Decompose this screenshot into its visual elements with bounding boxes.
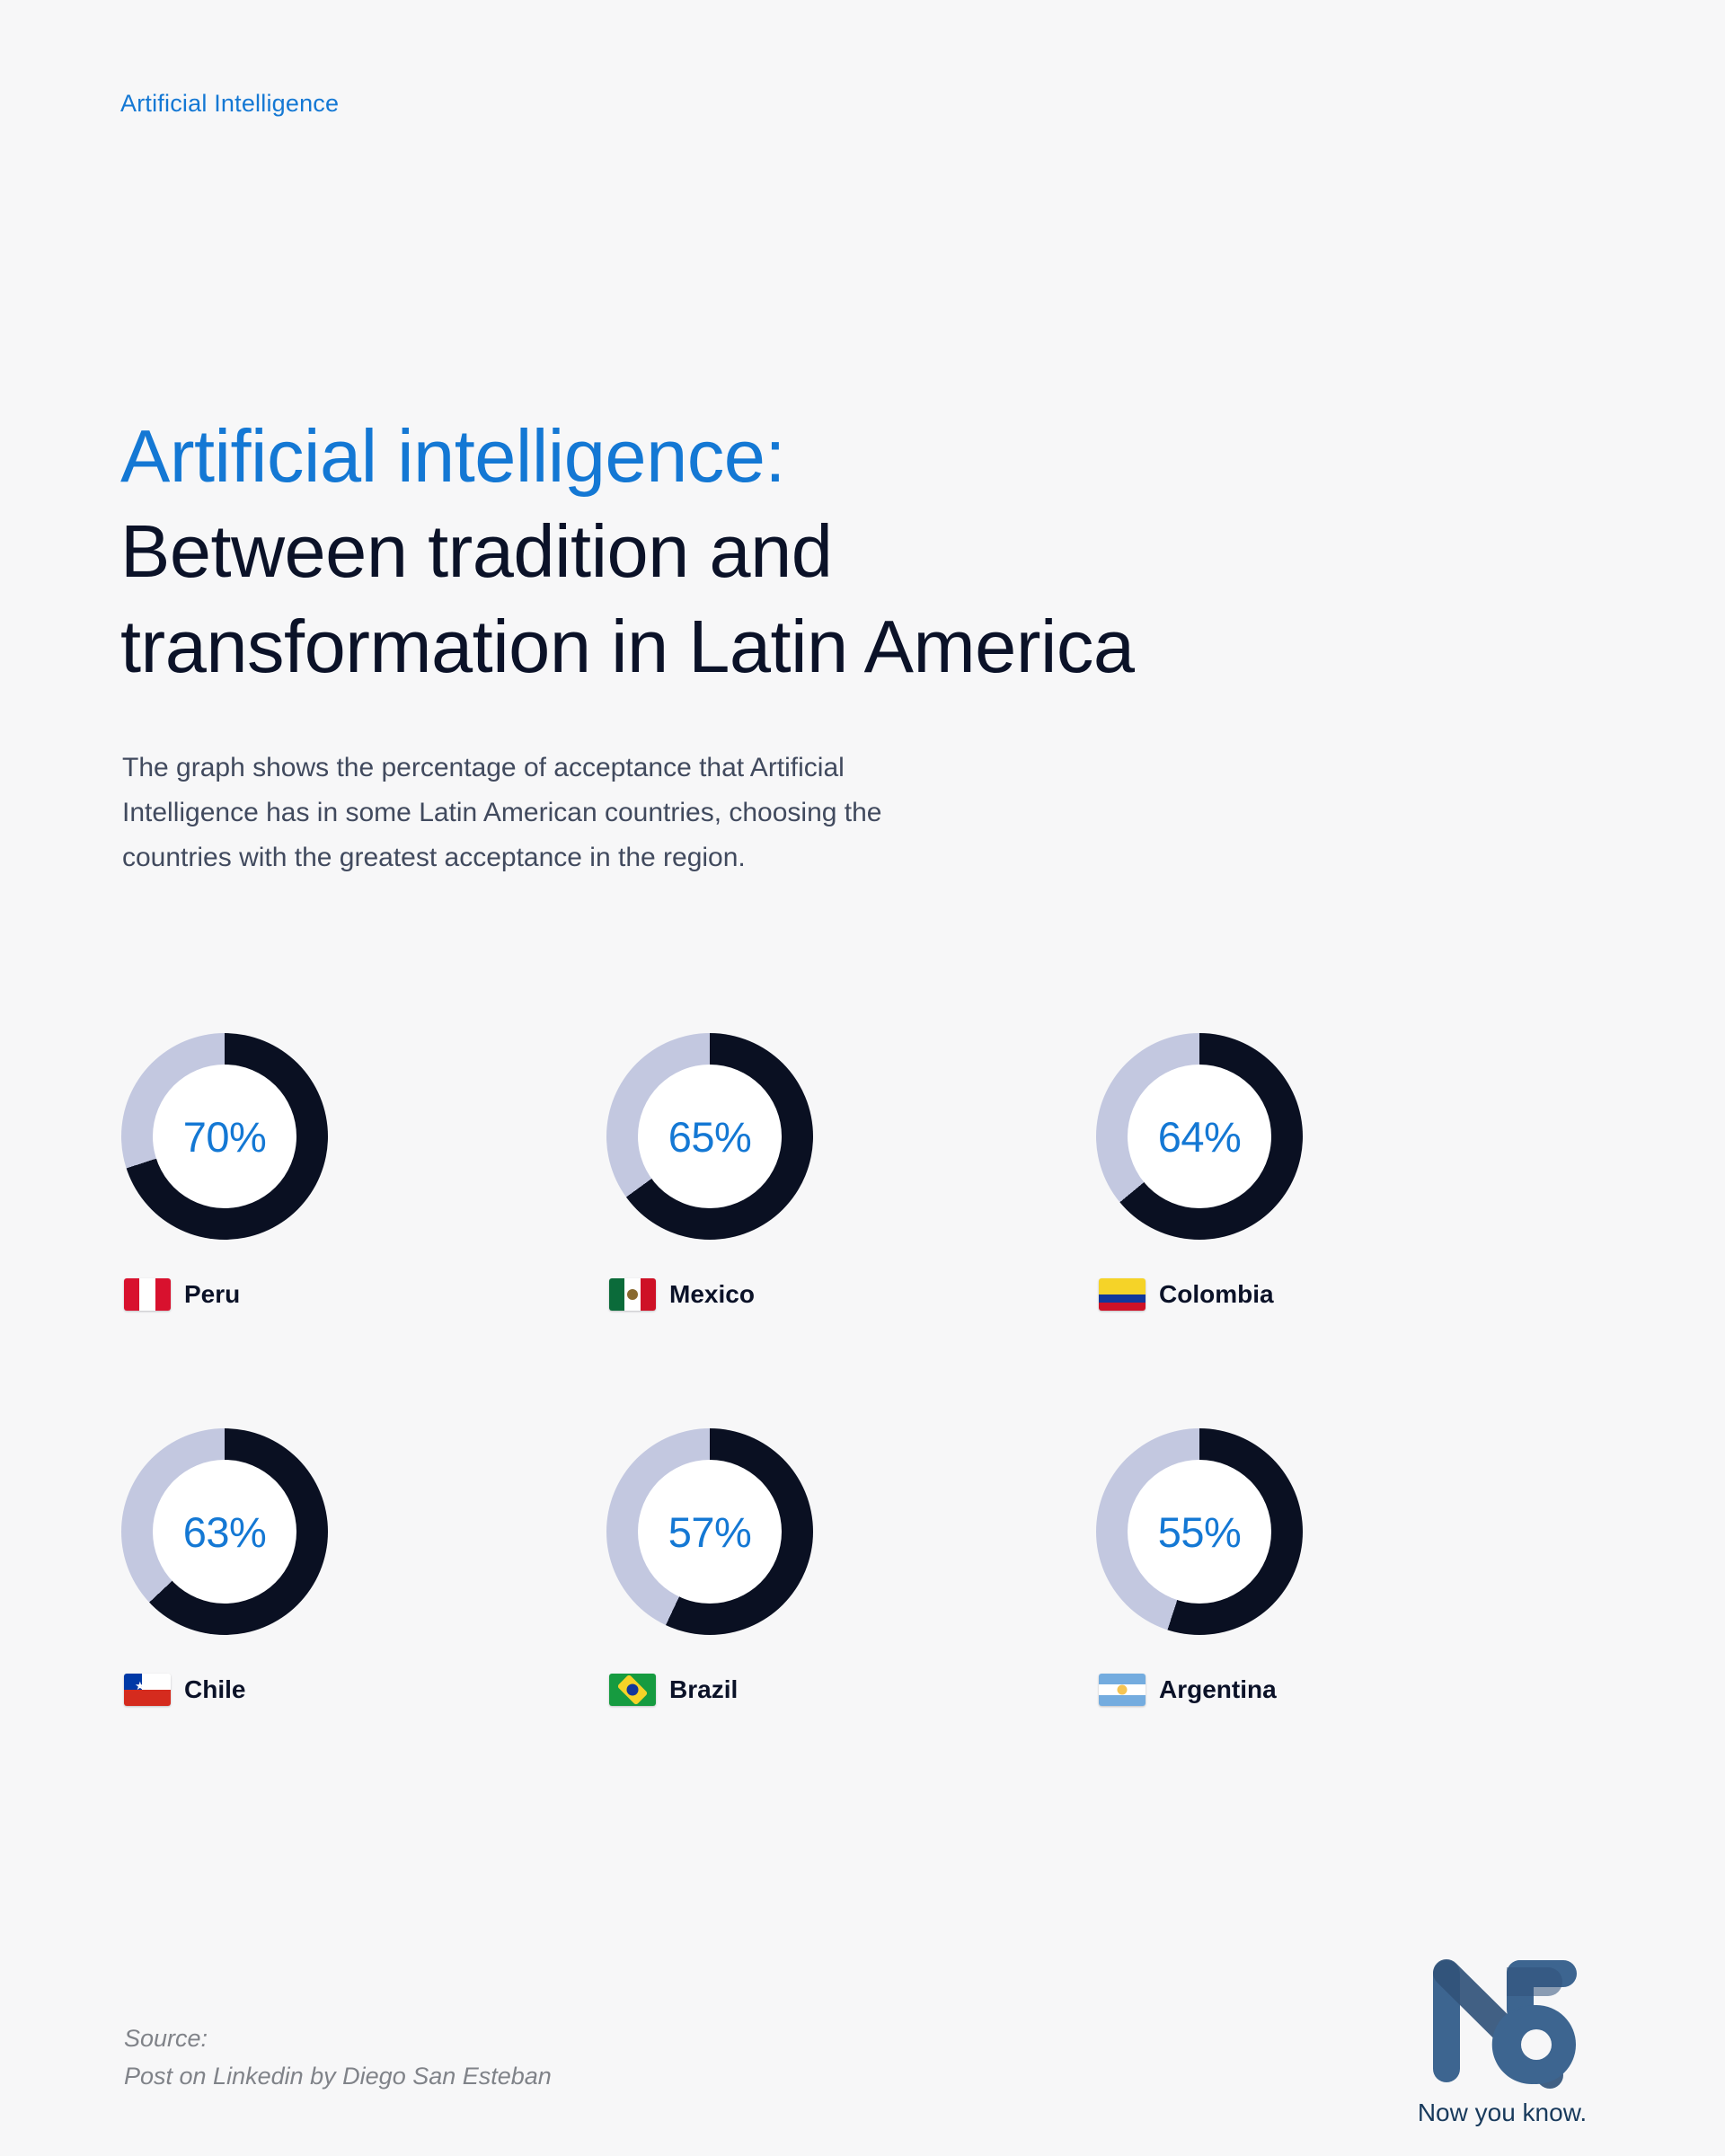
donut-value-chile: 63% — [183, 1511, 267, 1553]
donut-hole-peru: 70% — [153, 1065, 296, 1208]
country-name-mexico: Mexico — [669, 1280, 755, 1309]
country-name-brazil: Brazil — [669, 1675, 738, 1704]
brand-tagline: Now you know. — [1385, 2099, 1619, 2127]
donut-cell-colombia: 64% Colombia — [1074, 1033, 1433, 1315]
donut-chart-chile: 63% — [121, 1428, 328, 1635]
flag-argentina-icon — [1099, 1674, 1146, 1706]
donut-chart-grid: 70% Peru 65% — [0, 1033, 1725, 1824]
title-line-two: Between tradition and — [120, 504, 1630, 599]
donut-cell-argentina: 55% Argentina — [1074, 1428, 1433, 1710]
country-row-mexico: Mexico — [609, 1274, 943, 1315]
donut-cell-brazil: 57% Brazil — [584, 1428, 943, 1710]
subtitle-line-1: The graph shows the percentage of accept… — [122, 746, 1317, 791]
country-row-argentina: Argentina — [1099, 1669, 1433, 1710]
donut-row-1: 70% Peru 65% — [0, 1033, 1725, 1428]
infographic-page: Artificial Intelligence Artificial intel… — [0, 0, 1725, 2156]
flag-mexico-icon — [609, 1278, 656, 1311]
donut-value-colombia: 64% — [1158, 1116, 1242, 1158]
donut-chart-brazil: 57% — [606, 1428, 813, 1635]
subtitle-line-2: Intelligence has in some Latin American … — [122, 791, 1317, 835]
flag-colombia-icon — [1099, 1278, 1146, 1311]
donut-chart-peru: 70% — [121, 1033, 328, 1240]
flag-chile-icon: ★ — [124, 1674, 171, 1706]
flag-brazil-icon — [609, 1674, 656, 1706]
country-row-peru: Peru — [124, 1274, 458, 1315]
donut-value-mexico: 65% — [668, 1116, 752, 1158]
donut-hole-mexico: 65% — [638, 1065, 782, 1208]
country-row-chile: ★ Chile — [124, 1669, 458, 1710]
donut-value-peru: 70% — [183, 1116, 267, 1158]
source-credit: Post on Linkedin by Diego San Esteban — [124, 2057, 552, 2095]
donut-chart-colombia: 64% — [1096, 1033, 1303, 1240]
donut-wrap-mexico: 65% — [606, 1033, 813, 1240]
country-row-colombia: Colombia — [1099, 1274, 1433, 1315]
donut-hole-brazil: 57% — [638, 1460, 782, 1604]
country-name-chile: Chile — [184, 1675, 245, 1704]
donut-row-2: 63% ★ Chile — [0, 1428, 1725, 1824]
donut-wrap-peru: 70% — [121, 1033, 328, 1240]
subtitle-line-3: countries with the greatest acceptance i… — [122, 835, 1317, 880]
donut-wrap-colombia: 64% — [1096, 1033, 1303, 1240]
donut-cell-chile: 63% ★ Chile — [99, 1428, 458, 1710]
source-note: Source: Post on Linkedin by Diego San Es… — [124, 2019, 552, 2095]
donut-hole-argentina: 55% — [1128, 1460, 1271, 1604]
page-title: Artificial intelligence: Between traditi… — [120, 409, 1630, 694]
donut-value-argentina: 55% — [1158, 1511, 1242, 1553]
brand-logo: Now you know. — [1385, 1949, 1619, 2127]
eyebrow-label: Artificial Intelligence — [120, 90, 339, 118]
country-name-peru: Peru — [184, 1280, 240, 1309]
donut-hole-colombia: 64% — [1128, 1065, 1271, 1208]
donut-value-brazil: 57% — [668, 1511, 752, 1553]
country-row-brazil: Brazil — [609, 1669, 943, 1710]
donut-cell-mexico: 65% Mexico — [584, 1033, 943, 1315]
source-label: Source: — [124, 2019, 552, 2057]
donut-wrap-chile: 63% — [121, 1428, 328, 1635]
n5-logo-icon — [1417, 1949, 1588, 2093]
title-line-accent: Artificial intelligence: — [120, 409, 1630, 504]
title-line-three: transformation in Latin America — [120, 599, 1630, 694]
flag-peru-icon — [124, 1278, 171, 1311]
subtitle-paragraph: The graph shows the percentage of accept… — [122, 746, 1317, 880]
donut-hole-chile: 63% — [153, 1460, 296, 1604]
donut-wrap-argentina: 55% — [1096, 1428, 1303, 1635]
donut-cell-peru: 70% Peru — [99, 1033, 458, 1315]
donut-chart-mexico: 65% — [606, 1033, 813, 1240]
country-name-colombia: Colombia — [1159, 1280, 1274, 1309]
donut-chart-argentina: 55% — [1096, 1428, 1303, 1635]
donut-wrap-brazil: 57% — [606, 1428, 813, 1635]
country-name-argentina: Argentina — [1159, 1675, 1277, 1704]
